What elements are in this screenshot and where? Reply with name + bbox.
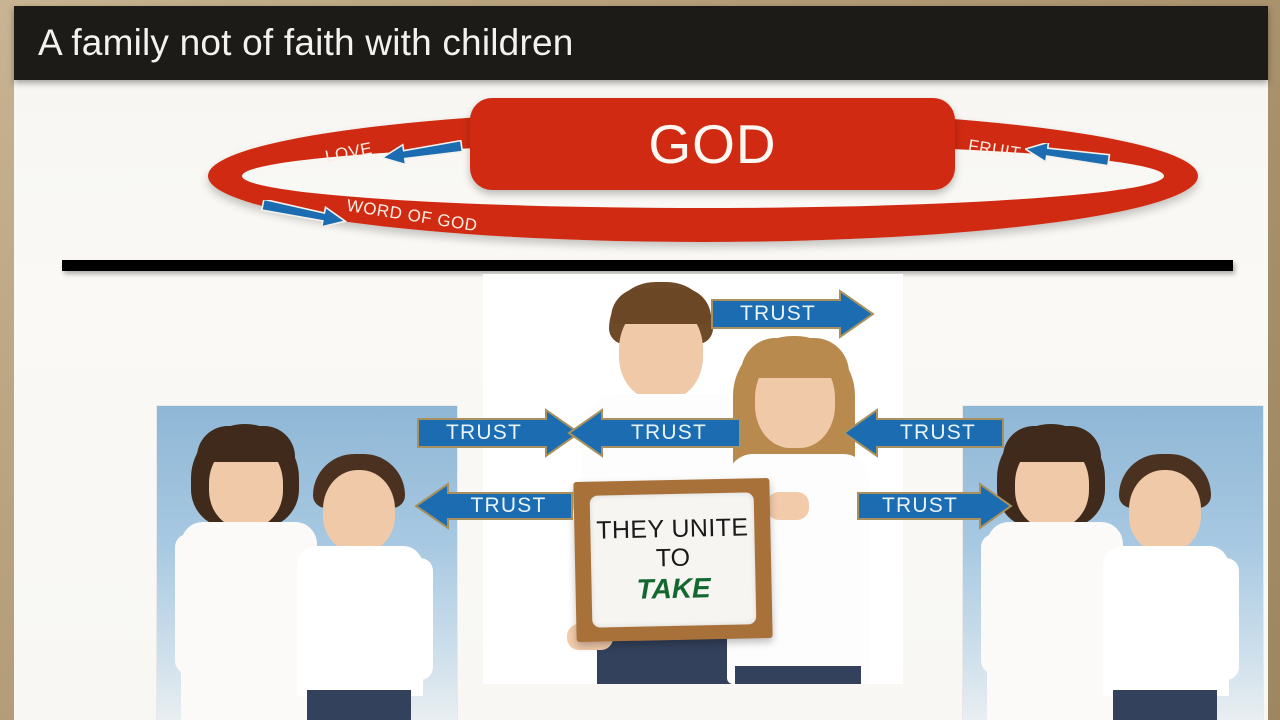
word-of-god-arrow-icon [258,200,348,226]
section-divider [62,260,1233,271]
trust-arrow-parents-out-right: TRUST [858,484,1012,528]
title-bar: A family not of faith with children [14,6,1268,80]
trust-arrow-parents-to-children-left: TRUST [568,410,740,456]
page-title: A family not of faith with children [38,22,574,64]
trust-arrow-parents-out-left: TRUST [415,484,572,528]
fruit-arrow-icon [1025,143,1111,167]
god-box: GOD [470,98,955,190]
whiteboard-sign: THEY UNITE TO TAKE [573,478,772,642]
slide: A family not of faith with children GOD … [0,0,1280,720]
sign-line-2: TO [656,544,691,574]
hand [767,492,809,520]
trust-arrow-children-right-to-parents: TRUST [843,410,1003,456]
sign-line-3: TAKE [636,572,711,606]
whiteboard-sign-text: THEY UNITE TO TAKE [590,492,757,627]
photo-children-left [157,406,457,720]
trust-arrow-husband-outward: TRUST [712,291,874,337]
figure-boy [1099,454,1239,720]
trust-arrow-children-left-to-parents: TRUST [418,410,580,456]
god-label: GOD [648,112,776,176]
figure-boy [293,454,433,720]
god-cycle-diagram: GOD LOVE WORD OF GOD FRUIT [200,88,1210,258]
photo-children-right [963,406,1263,720]
love-arrow-icon [382,140,464,164]
sign-line-1: THEY UNITE [596,513,749,545]
